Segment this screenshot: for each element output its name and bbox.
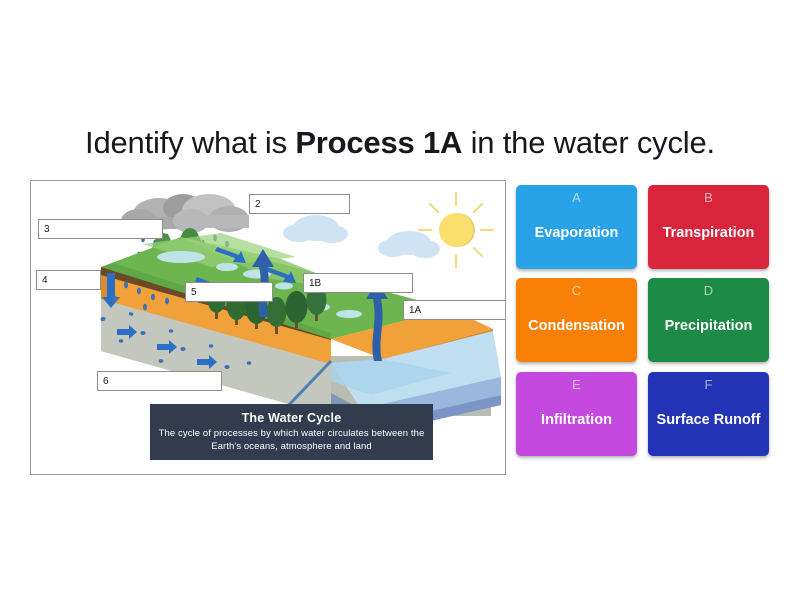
caption-title: The Water Cycle bbox=[156, 410, 427, 426]
option-letter-f: F bbox=[705, 377, 713, 393]
option-letter-d: D bbox=[704, 283, 713, 299]
option-label-d: Precipitation bbox=[661, 299, 757, 362]
cloud-icon bbox=[378, 231, 440, 258]
option-d-precipitation[interactable]: D Precipitation bbox=[648, 278, 769, 362]
option-label-c: Condensation bbox=[524, 299, 629, 362]
diagram-caption: The Water Cycle The cycle of processes b… bbox=[150, 404, 433, 460]
option-letter-a: A bbox=[572, 190, 581, 206]
diagram-label-4[interactable]: 4 bbox=[36, 270, 101, 290]
page-title: Identify what is Process 1A in the water… bbox=[0, 122, 800, 164]
diagram-panel: The Water Cycle The cycle of processes b… bbox=[30, 180, 506, 475]
question-suffix: in the water cycle. bbox=[462, 125, 715, 160]
option-e-infiltration[interactable]: E Infiltration bbox=[516, 372, 637, 456]
diagram-label-3[interactable]: 3 bbox=[38, 219, 163, 239]
option-a-evaporation[interactable]: A Evaporation bbox=[516, 185, 637, 269]
question-emphasis: Process 1A bbox=[295, 125, 462, 160]
option-label-b: Transpiration bbox=[659, 206, 759, 269]
question-prefix: Identify what is bbox=[85, 125, 295, 160]
option-letter-b: B bbox=[704, 190, 713, 206]
option-b-transpiration[interactable]: B Transpiration bbox=[648, 185, 769, 269]
caption-subtitle: The cycle of processes by which water ci… bbox=[156, 428, 427, 453]
diagram-label-1a[interactable]: 1A bbox=[403, 300, 506, 320]
diagram-label-6[interactable]: 6 bbox=[97, 371, 222, 391]
option-label-e: Infiltration bbox=[537, 393, 616, 456]
answer-options: A Evaporation B Transpiration C Condensa… bbox=[516, 185, 769, 466]
diagram-label-1b[interactable]: 1B bbox=[303, 273, 413, 293]
option-letter-c: C bbox=[572, 283, 581, 299]
diagram-label-5[interactable]: 5 bbox=[185, 282, 273, 302]
option-f-surface-runoff[interactable]: F Surface Runoff bbox=[648, 372, 769, 456]
option-label-a: Evaporation bbox=[531, 206, 623, 269]
option-letter-e: E bbox=[572, 377, 581, 393]
option-c-condensation[interactable]: C Condensation bbox=[516, 278, 637, 362]
option-label-f: Surface Runoff bbox=[653, 393, 765, 456]
diagram-label-2[interactable]: 2 bbox=[249, 194, 350, 214]
cloud-icon bbox=[283, 215, 348, 243]
